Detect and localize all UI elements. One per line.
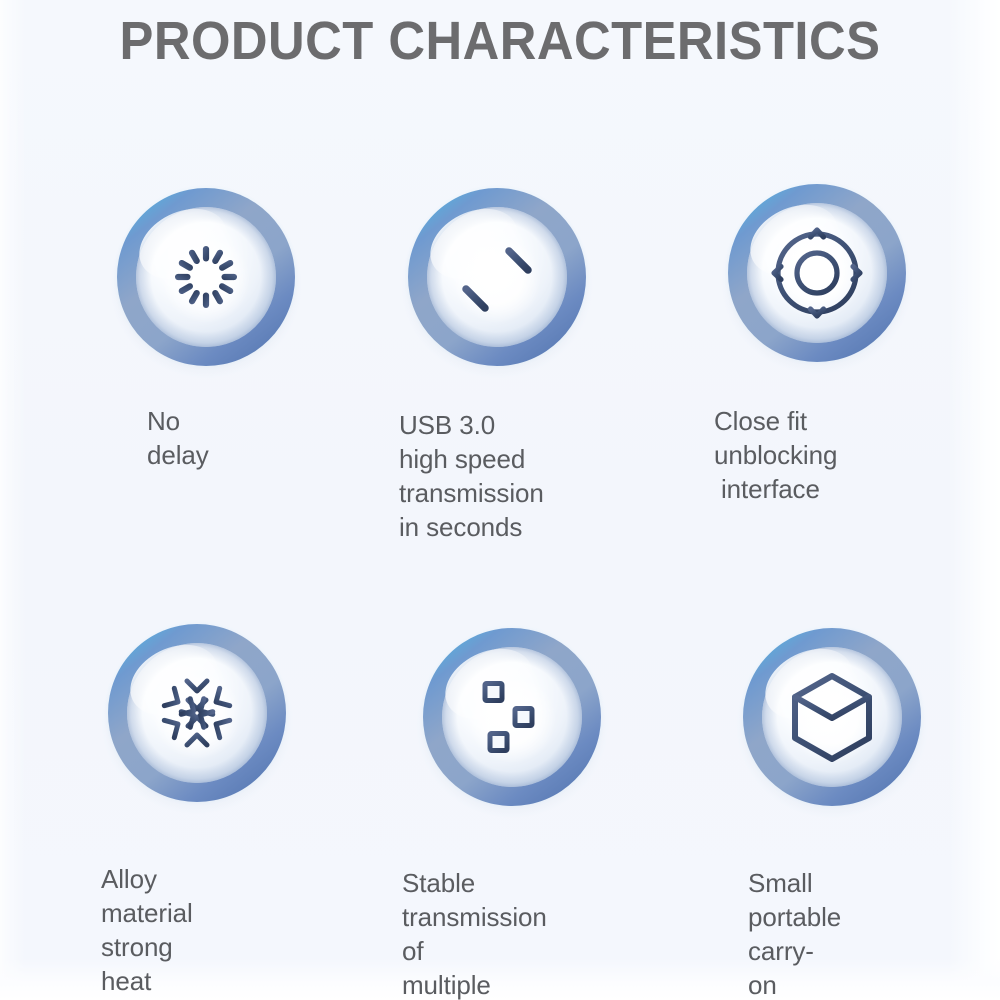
badge-close-fit [724,180,910,366]
feature-caption-no-delay: No delay [147,404,209,472]
page-title: PRODUCT CHARACTERISTICS [30,10,970,72]
feature-caption-close-fit: Close fit unblockinginterface [714,404,837,506]
product-characteristics-infographic: PRODUCT CHARACTERISTICS [0,0,1000,1000]
badge-stable-transmission [419,624,605,810]
caption-line-1: Close fit unblocking [714,406,837,470]
panel-right-edge [948,0,1000,1000]
badge-usb-speed [404,184,590,370]
feature-caption-alloy-heat: Alloy material strong heat dissipation [101,862,223,1000]
badge-no-delay [113,184,299,370]
feature-caption-stable-transmission: Stable transmission of multiple simultan… [402,866,554,1000]
badge-portable [739,624,925,810]
panel-left-edge [0,0,26,1000]
sliders-icon [474,684,550,751]
badge-alloy-heat [104,620,290,806]
caption-line-2: interface [714,472,820,506]
feature-caption-portable: Small portable carry-on [748,866,841,1000]
feature-caption-usb-speed: USB 3.0 high speed transmission in secon… [399,408,544,544]
